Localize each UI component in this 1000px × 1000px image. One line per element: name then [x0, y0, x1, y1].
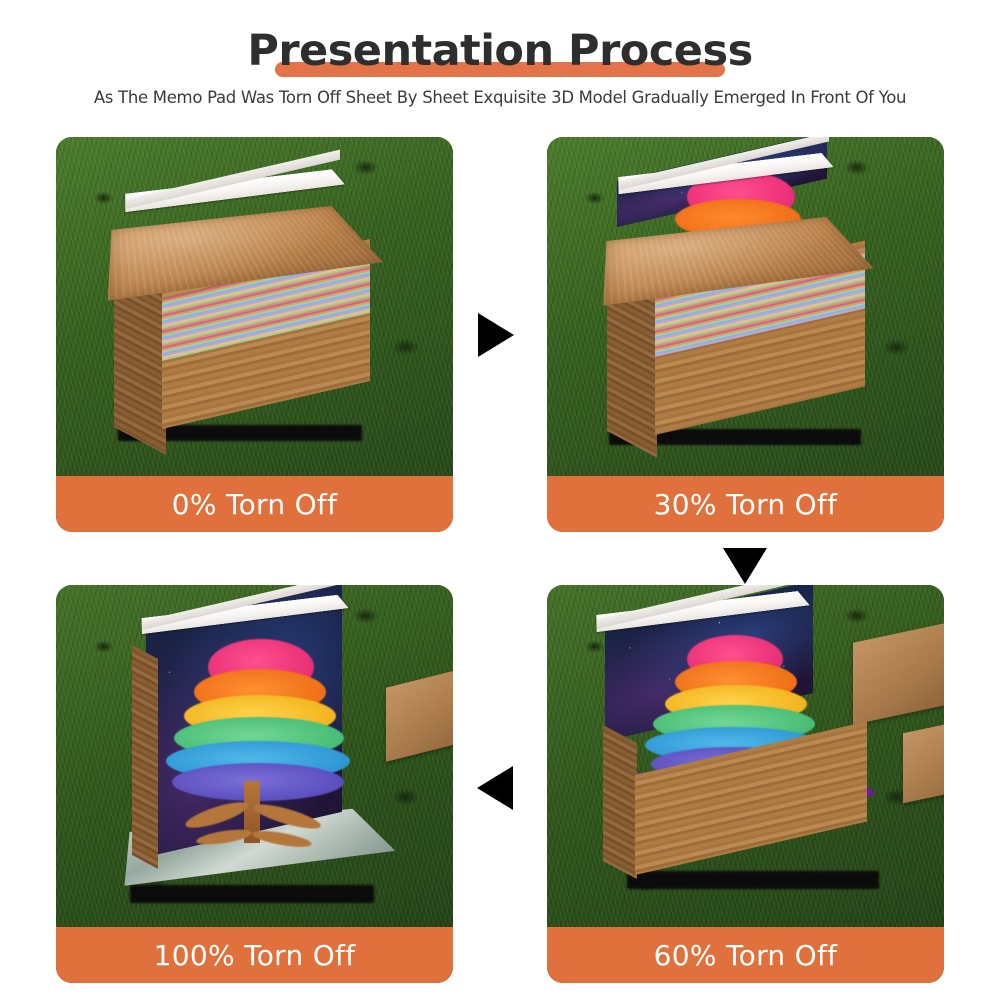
panel-100-percent[interactable]: 100% Torn Off	[56, 585, 453, 983]
panel-30-caption: 30% Torn Off	[547, 476, 944, 532]
header: Presentation Process As The Memo Pad Was…	[0, 0, 1000, 130]
page-title: Presentation Process	[0, 24, 1000, 79]
arrow-left-icon	[477, 766, 513, 810]
panel-100-photo	[56, 585, 453, 927]
panel-0-percent[interactable]: 0% Torn Off	[56, 137, 453, 532]
panel-100-caption: 100% Torn Off	[56, 927, 453, 983]
panel-30-percent[interactable]: 30% Torn Off	[547, 137, 944, 532]
panel-0-caption: 0% Torn Off	[56, 476, 453, 532]
panel-60-photo	[547, 585, 944, 927]
panel-30-photo	[547, 137, 944, 476]
page-title-wrap: Presentation Process	[0, 24, 1000, 82]
arrow-down-icon	[723, 548, 767, 584]
infographic-page: Presentation Process As The Memo Pad Was…	[0, 0, 1000, 1000]
panel-0-photo	[56, 137, 453, 476]
panel-60-caption: 60% Torn Off	[547, 927, 944, 983]
arrow-right-icon	[478, 313, 514, 357]
panel-60-percent[interactable]: 60% Torn Off	[547, 585, 944, 983]
page-subtitle: As The Memo Pad Was Torn Off Sheet By Sh…	[0, 88, 1000, 107]
